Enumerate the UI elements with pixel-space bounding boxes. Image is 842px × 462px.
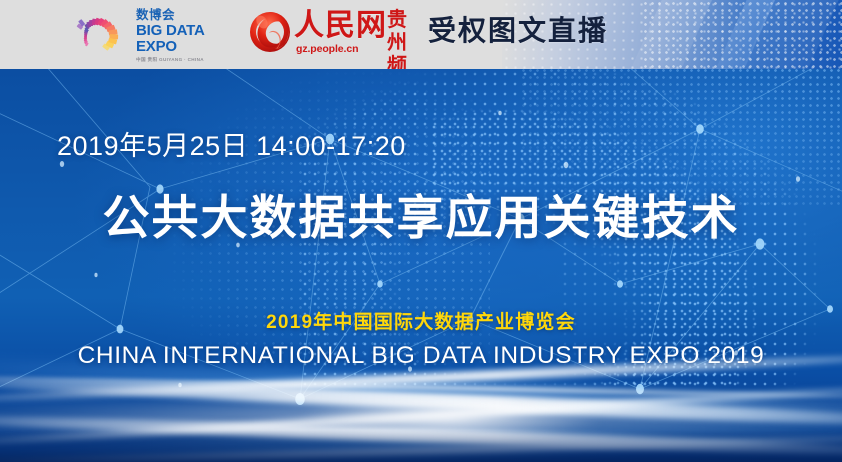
people-daily-swirl-logo-icon (248, 10, 292, 54)
logo-location-text: 中国 贵阳 GUIYANG · CHINA (136, 57, 234, 63)
logo-english-line2: EXPO (136, 39, 234, 55)
logo-english-line1: BIG DATA (136, 23, 234, 39)
spiral-squares-logo-icon (62, 6, 134, 62)
site-header: 数博会 BIG DATA EXPO 中国 贵阳 GUIYANG · CHINA (0, 0, 842, 69)
header-slogan: 受权图文直播 (428, 16, 608, 48)
event-datetime: 2019年5月25日 14:00-17:20 (57, 124, 406, 163)
people-daily-name: 人民网 (294, 10, 387, 42)
logo-chinese-name: 数博会 (136, 9, 234, 22)
big-data-expo-logo[interactable]: 数博会 BIG DATA EXPO 中国 贵阳 GUIYANG · CHINA (62, 6, 234, 64)
live-broadcast-banner: 2019年5月25日 14:00-17:20 公共大数据共享应用关键技术 201… (0, 0, 842, 462)
people-daily-logo[interactable]: 人民网 gz.people.cn 贵州 频道 (248, 9, 416, 59)
expo-name-chinese: 2019年中国国际大数据产业博览会 (0, 307, 842, 334)
channel-line-1: 贵州 (378, 9, 416, 55)
page-title: 公共大数据共享应用关键技术 (0, 179, 842, 248)
channel-line-2: 频道 (378, 55, 416, 69)
banner-content: 2019年5月25日 14:00-17:20 公共大数据共享应用关键技术 201… (0, 69, 842, 462)
people-daily-channel: 贵州 频道 (378, 9, 416, 69)
people-daily-url: gz.people.cn (296, 43, 358, 55)
expo-name-english: CHINA INTERNATIONAL BIG DATA INDUSTRY EX… (0, 342, 842, 370)
